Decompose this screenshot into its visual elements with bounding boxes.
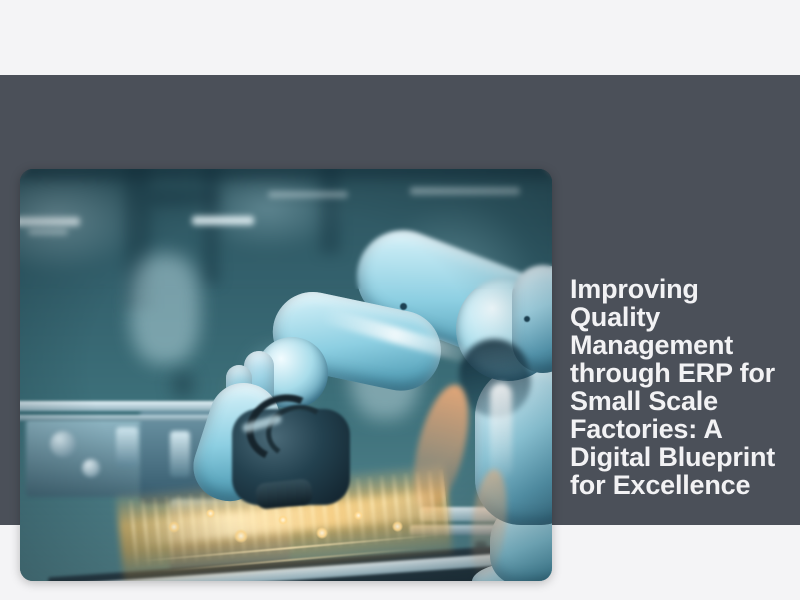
article-title: Improving Quality Management through ERP… (570, 275, 770, 499)
background-dark-dot (175, 374, 191, 396)
title-line: Quality (570, 303, 770, 331)
spark (316, 527, 328, 539)
machine-part (116, 427, 138, 467)
ceiling-light (410, 187, 520, 195)
spark (206, 509, 215, 518)
factory-scene (20, 169, 552, 581)
title-line: Improving (570, 275, 770, 303)
hall-column (202, 169, 220, 284)
title-line: Digital Blueprint (570, 443, 770, 471)
article-hero-image (20, 169, 552, 581)
hall-column (320, 169, 340, 254)
robot-bolt (524, 316, 530, 322)
background-glow (130, 254, 200, 364)
spark (234, 529, 248, 543)
ceiling-light (28, 229, 68, 235)
ceiling-light (20, 217, 80, 226)
ceiling-light (192, 216, 254, 225)
ceiling-light (268, 191, 348, 198)
spark (168, 521, 180, 533)
hero-banner: Improving Quality Management through ERP… (0, 75, 800, 525)
robot-bolt (400, 303, 407, 310)
title-line: for Excellence (570, 471, 770, 499)
title-line: through ERP for (570, 359, 770, 387)
conveyor-rail (20, 415, 227, 421)
spark (278, 515, 288, 525)
title-line: Small Scale (570, 387, 770, 415)
machine-part (170, 431, 190, 477)
machine-part (50, 431, 76, 457)
machine-part (82, 459, 100, 477)
title-line: Management (570, 331, 770, 359)
page-root: Improving Quality Management through ERP… (0, 0, 800, 600)
title-line: Factories: A (570, 415, 770, 443)
robot-highlight (490, 383, 512, 479)
spark (354, 511, 363, 520)
hall-beam-horizontal (20, 169, 552, 179)
spark (392, 521, 403, 532)
